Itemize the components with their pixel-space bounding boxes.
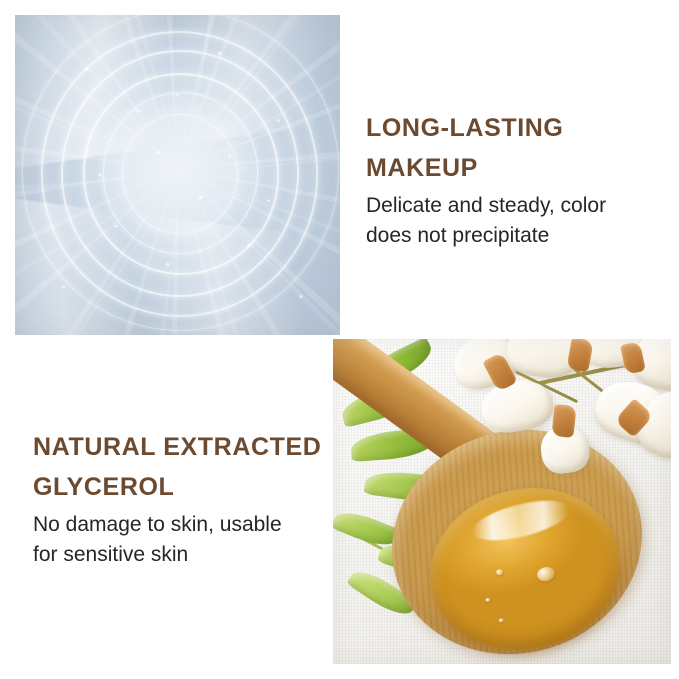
feature-block-natural-extracted-glycerol: NATURAL EXTRACTED GLYCEROL No damage to … bbox=[33, 427, 333, 570]
feature-title-long-lasting-makeup: LONG-LASTING MAKEUP bbox=[366, 108, 666, 188]
feature-title-natural-extracted-glycerol: NATURAL EXTRACTED GLYCEROL bbox=[33, 427, 333, 507]
feature-body-natural-extracted-glycerol: No damage to skin, usable for sensitive … bbox=[33, 510, 333, 570]
flower-calyx-4 bbox=[551, 404, 576, 438]
honey-bubble-large bbox=[535, 565, 556, 583]
feature-body-long-lasting-makeup: Delicate and steady, color does not prec… bbox=[366, 191, 666, 251]
acacia-flower-cluster bbox=[445, 339, 671, 519]
product-feature-infographic: LONG-LASTING MAKEUP Delicate and steady,… bbox=[0, 0, 679, 679]
honey-bubble-small-2 bbox=[485, 598, 491, 603]
water-gel-texture-photo bbox=[15, 15, 340, 335]
honey-bubble-small-1 bbox=[495, 568, 503, 576]
water-sparkle-specks bbox=[15, 15, 340, 335]
feature-block-long-lasting-makeup: LONG-LASTING MAKEUP Delicate and steady,… bbox=[366, 108, 666, 251]
honey-bubble-small-3 bbox=[498, 617, 504, 622]
flower-calyx-2 bbox=[566, 339, 593, 373]
honey-spoon-photo bbox=[333, 339, 671, 664]
